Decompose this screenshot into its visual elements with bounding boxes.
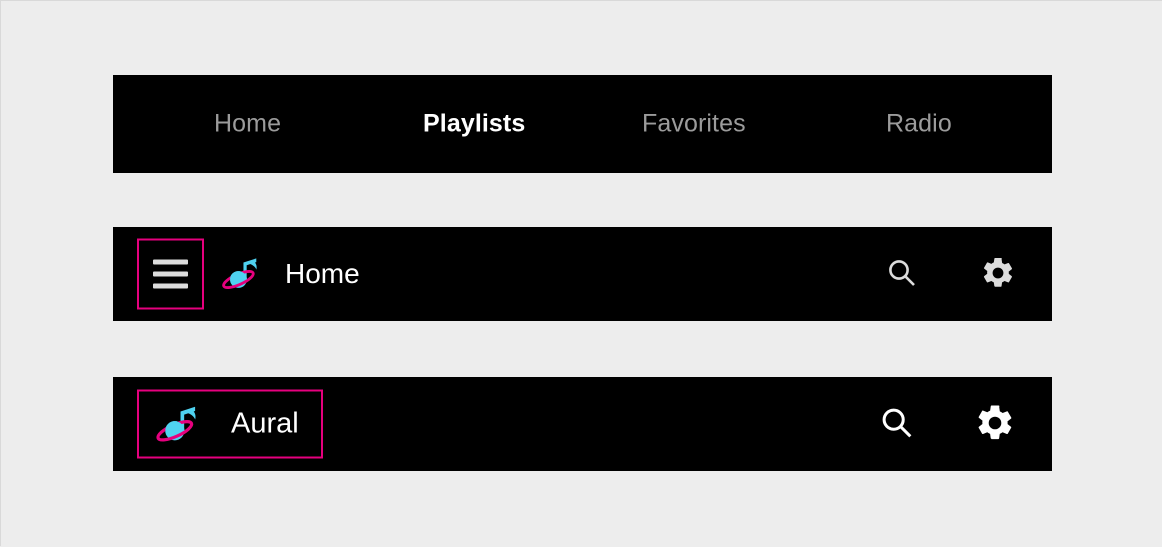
toolbar-home-title: Home [285, 260, 360, 288]
app-toolbar-home: Home [113, 227, 1052, 321]
nav-tab-favorites[interactable]: Favorites [642, 112, 746, 137]
gear-icon [974, 402, 1016, 447]
gear-icon [980, 255, 1016, 294]
toolbar-aural-title: Aural [231, 410, 299, 439]
hamburger-menu-icon-line-2 [153, 272, 188, 277]
app-stage: Home Playlists Favorites Radio [1, 1, 1162, 547]
toolbar-home-brand: Home [221, 252, 360, 296]
hamburger-menu-icon-line-1 [153, 260, 188, 265]
nav-tab-radio[interactable]: Radio [886, 112, 952, 137]
primary-navigation-bar: Home Playlists Favorites Radio [113, 75, 1052, 173]
search-button[interactable] [873, 400, 921, 448]
search-icon [877, 403, 917, 446]
search-button[interactable] [881, 253, 923, 295]
aural-planet-note-logo-icon [155, 399, 205, 449]
aural-planet-note-logo-icon [221, 252, 265, 296]
aural-brand-button[interactable]: Aural [137, 390, 323, 459]
hamburger-menu-icon-line-3 [153, 284, 188, 289]
app-toolbar-aural: Aural [113, 377, 1052, 471]
hamburger-menu-button[interactable] [137, 239, 204, 310]
toolbar-aural-actions [873, 377, 1019, 471]
toolbar-home-actions [881, 227, 1019, 321]
nav-tab-playlists[interactable]: Playlists [423, 112, 525, 137]
search-icon [884, 255, 920, 294]
settings-button[interactable] [971, 400, 1019, 448]
settings-button[interactable] [977, 253, 1019, 295]
nav-tab-home[interactable]: Home [214, 112, 281, 137]
